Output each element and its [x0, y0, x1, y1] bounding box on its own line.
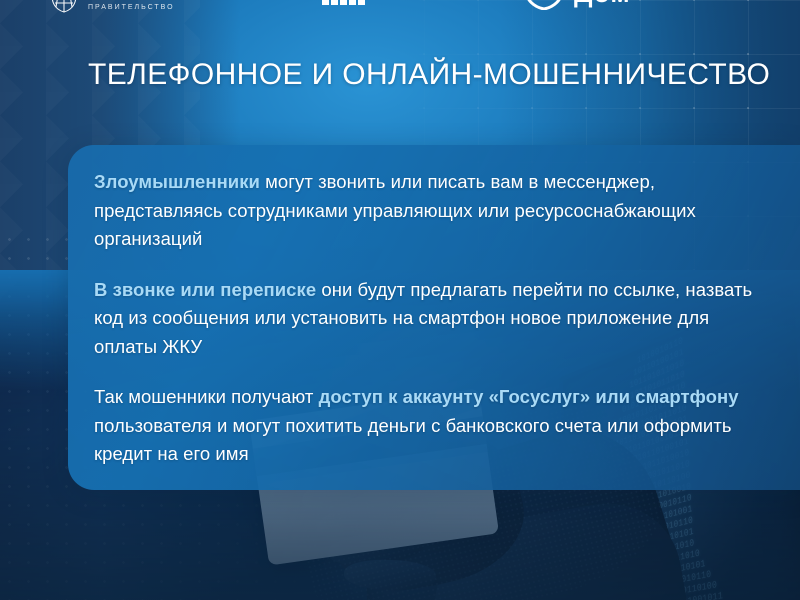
- header-logo-bar: РОССИЯ ПРАВИТЕЛЬСТВО ЖКХ Дом: [0, 0, 800, 30]
- logo-russia-subtext: ПРАВИТЕЛЬСТВО: [88, 4, 197, 11]
- paragraph-p2: В звонке или переписке они будут предлаг…: [94, 276, 766, 362]
- content-panel: Злоумышленники могут звонить или писать …: [68, 145, 800, 490]
- logo-government-russia: РОССИЯ ПРАВИТЕЛЬСТВО: [48, 0, 197, 14]
- body-text: Так мошенники получают: [94, 386, 319, 407]
- paragraph-p3: Так мошенники получают доступ к аккаунту…: [94, 383, 766, 469]
- page-title: ТЕЛЕФОННОЕ И ОНЛАЙН-МОШЕННИЧЕСТВО: [88, 58, 778, 92]
- paragraph-p1: Злоумышленники могут звонить или писать …: [94, 168, 766, 254]
- highlighted-text: доступ к аккаунту «Госуслуг» или смартфо…: [319, 386, 739, 407]
- dom-shield-icon: [522, 0, 566, 10]
- poster-canvas: 1010010110 10110100101 101101011010 0101…: [0, 0, 800, 600]
- paragraph-list: Злоумышленники могут звонить или писать …: [94, 168, 766, 469]
- jkh-bars-icon: [322, 0, 365, 5]
- highlighted-text: Злоумышленники: [94, 171, 265, 192]
- logo-gis-jkh: ЖКХ: [322, 0, 437, 7]
- body-text: пользователя и могут похитить деньги с б…: [94, 415, 732, 465]
- russia-crest-icon: [48, 0, 80, 14]
- logo-gosuslugi-dom: Дом: [522, 0, 631, 10]
- logo-jkh-text: ЖКХ: [377, 0, 437, 7]
- highlighted-text: В звонке или переписке: [94, 279, 321, 300]
- logo-dom-text: Дом: [574, 0, 631, 9]
